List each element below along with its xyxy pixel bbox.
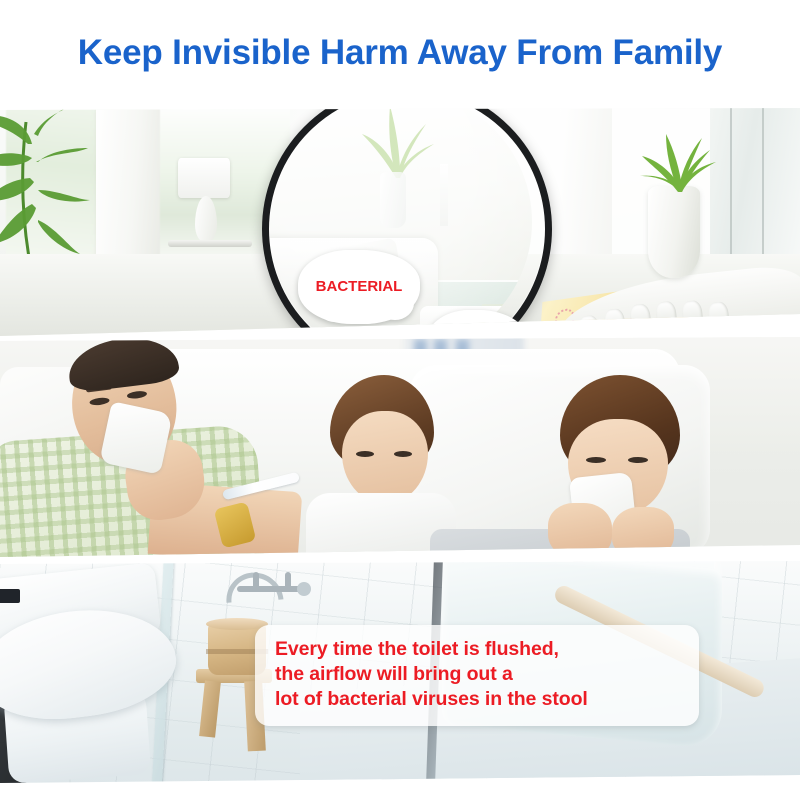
bubble-virus: VIRUS <box>424 310 530 336</box>
boy-one-face <box>342 411 428 503</box>
boy-two-hand-left <box>548 503 612 557</box>
page-title: Keep Invisible Harm Away From Family <box>0 30 800 76</box>
bubble-bacterial-label: BACTERIAL <box>298 250 420 324</box>
shower-faucet-icon <box>234 567 318 607</box>
potted-plant-icon <box>636 126 720 196</box>
side-table <box>168 240 252 247</box>
boy-two-hand-right <box>612 507 674 557</box>
panel-sick-family <box>0 337 800 557</box>
panel-living-room: BACTERIAL VIRUS <box>0 108 800 336</box>
father-tissue <box>99 401 173 475</box>
floor-planter <box>648 186 700 278</box>
table-lamp-shade <box>178 158 230 198</box>
poster-root: Keep Invisible Harm Away From Family <box>0 0 800 800</box>
bubble-bacterial: BACTERIAL <box>298 250 420 324</box>
flush-warning-callout: Every time the toilet is flushed, the ai… <box>255 625 699 726</box>
flush-warning-text: Every time the toilet is flushed, the ai… <box>275 637 681 712</box>
living-room-scene: BACTERIAL VIRUS <box>0 108 800 336</box>
bubble-virus-label: VIRUS <box>424 310 530 336</box>
toilet-control-panel <box>0 589 20 603</box>
sick-family-scene <box>0 337 800 557</box>
